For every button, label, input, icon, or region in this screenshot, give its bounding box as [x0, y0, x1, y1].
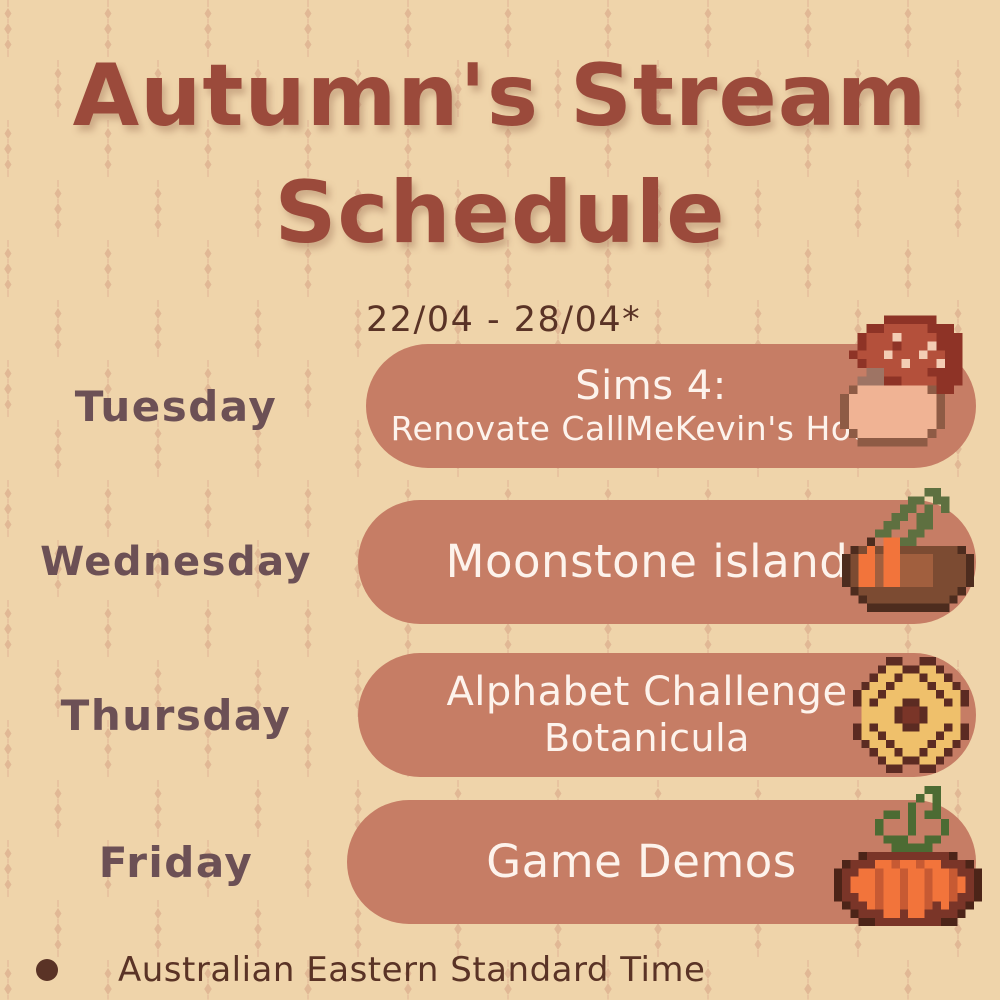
pill-title: Moonstone island	[446, 535, 849, 588]
day-label-wednesday: Wednesday	[0, 500, 352, 624]
day-label-tuesday: Tuesday	[0, 344, 352, 468]
pill-title: Alphabet Challenge	[446, 669, 847, 716]
schedule-row: Tuesday Sims 4: Renovate CallMeKevin's H…	[0, 344, 1000, 468]
pill-text: Game Demos	[486, 835, 836, 888]
pill-text: Sims 4: Renovate CallMeKevin's House	[391, 363, 952, 449]
schedule-row: Friday Game Demos	[0, 800, 1000, 924]
schedule-pill-thursday[interactable]: Alphabet Challenge Botanicula	[358, 653, 976, 777]
schedule-pill-tuesday[interactable]: Sims 4: Renovate CallMeKevin's House	[366, 344, 976, 468]
schedule-row: Wednesday Moonstone island	[0, 500, 1000, 624]
date-range: 22/04 - 28/04*	[366, 300, 641, 340]
day-label-thursday: Thursday	[0, 653, 352, 777]
pill-title: Sims 4:	[391, 363, 912, 410]
timezone-label: Australian Eastern Standard Time	[118, 950, 705, 990]
pill-title: Game Demos	[486, 835, 796, 888]
footer-note: Australian Eastern Standard Time	[34, 950, 705, 990]
pill-text: Moonstone island	[446, 535, 889, 588]
stream-schedule-poster: Autumn's Stream Schedule 22/04 - 28/04* …	[0, 0, 1000, 1000]
bullet-icon	[36, 959, 58, 981]
schedule-row: Thursday Alphabet Challenge Botanicula	[0, 653, 1000, 777]
day-label-friday: Friday	[0, 800, 352, 924]
schedule-pill-friday[interactable]: Game Demos	[347, 800, 976, 924]
pill-subtitle: Renovate CallMeKevin's House	[391, 410, 912, 449]
pill-text: Alphabet Challenge Botanicula	[446, 669, 887, 761]
pill-subtitle: Botanicula	[446, 716, 847, 761]
pumpkin-orange-icon	[832, 786, 984, 926]
schedule-pill-wednesday[interactable]: Moonstone island	[358, 500, 976, 624]
